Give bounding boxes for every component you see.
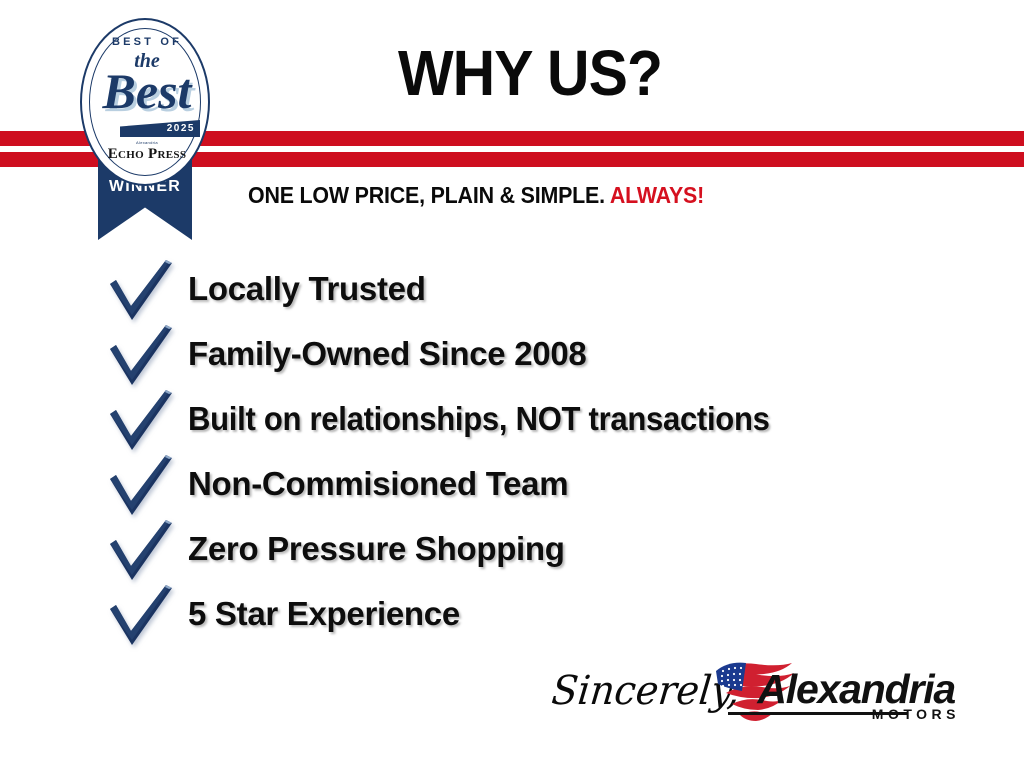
list-item-label: 5 Star Experience [188,595,460,633]
best-of-the-best-award-badge: WINNER BEST OF the Best 2025 Alexandria … [62,12,232,237]
seal-best-script-text: Best [82,66,212,116]
benefits-list: Locally Trusted Family-Owned Since 2008 … [106,262,1006,652]
list-item: Locally Trusted [106,262,1006,327]
page-subtitle: ONE LOW PRICE, PLAIN & SIMPLE. ALWAYS! [248,182,704,209]
list-item-label: Non-Commisioned Team [188,465,568,503]
checkmark-icon [106,453,176,519]
list-item: Family-Owned Since 2008 [106,327,1006,392]
checkmark-icon [106,583,176,649]
checkmark-icon [106,258,176,324]
seal-best-of-text: BEST OF [82,36,212,48]
list-item-label: Zero Pressure Shopping [188,530,565,568]
checkmark-icon [106,518,176,584]
list-item: 5 Star Experience [106,587,1006,652]
list-item-label: Built on relationships, NOT transactions [188,400,770,438]
page-title: WHY US? [346,40,714,106]
subtitle-main-text: ONE LOW PRICE, PLAIN & SIMPLE. [248,182,605,208]
list-item: Zero Pressure Shopping [106,522,1006,587]
logo-brand-subtitle: MOTORS [712,706,960,722]
checkmark-icon [106,323,176,389]
subtitle-accent-text: ALWAYS! [610,182,704,208]
seal-publisher-prefix: Alexandria [82,140,212,145]
list-item: Non-Commisioned Team [106,457,1006,522]
award-seal: BEST OF the Best 2025 Alexandria Echo Pr… [80,18,210,186]
alexandria-motors-logo: Alexandria MOTORS [712,656,960,728]
list-item: Built on relationships, NOT transactions [106,392,1006,457]
list-item-label: Locally Trusted [188,270,426,308]
list-item-label: Family-Owned Since 2008 [188,335,586,373]
checkmark-icon [106,388,176,454]
seal-publisher-name: Echo Press [82,146,212,163]
